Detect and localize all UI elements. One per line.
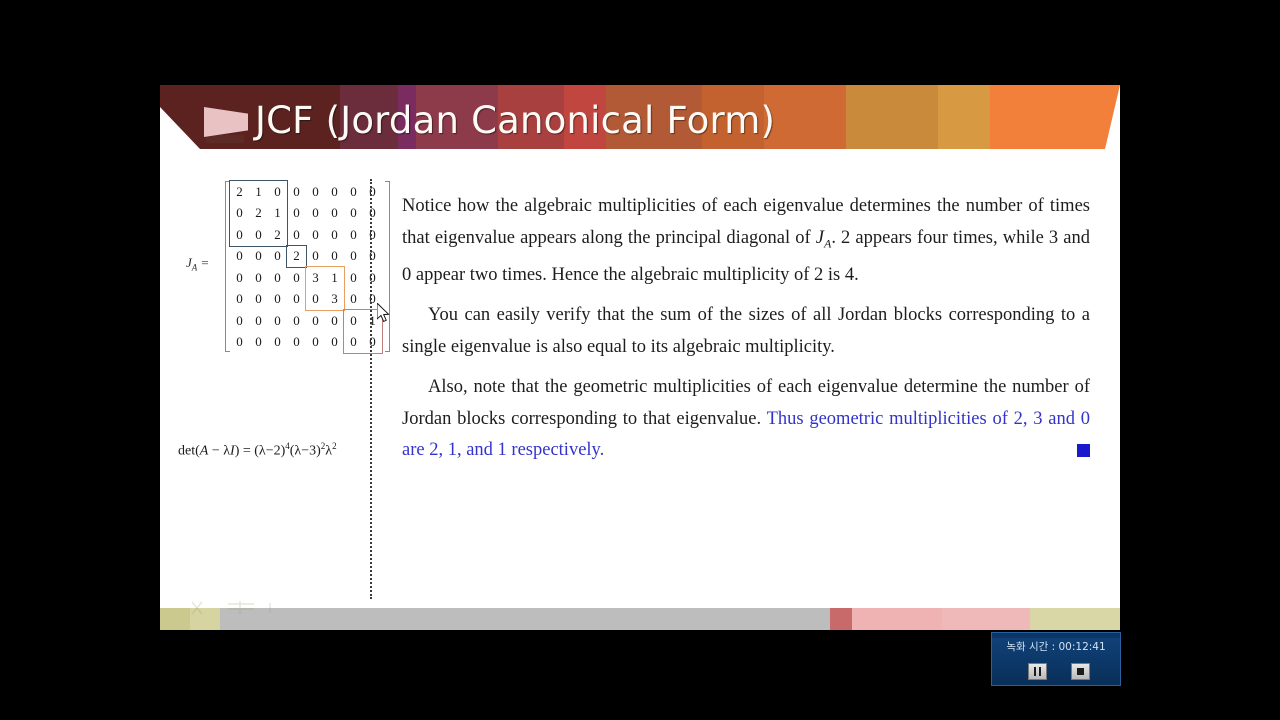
matrix-label-subscript: A: [192, 263, 198, 273]
matrix-cell-6-1: 0: [249, 310, 268, 332]
paragraph-algebraic-multiplicity: Notice how the algebraic multiplicities …: [402, 191, 1090, 291]
pause-button[interactable]: [1028, 663, 1047, 680]
matrix-cell-0-6: 0: [344, 181, 363, 203]
det-prefix: det(: [178, 444, 200, 459]
matrix-cell-5-6: 0: [344, 289, 363, 311]
matrix-cell-5-3: 0: [287, 289, 306, 311]
matrix-cell-3-7: 0: [363, 246, 382, 268]
matrix-cell-7-4: 0: [306, 332, 325, 354]
matrix-cell-6-3: 0: [287, 310, 306, 332]
pause-icon: [1034, 667, 1041, 676]
matrix-cell-7-0: 0: [230, 332, 249, 354]
matrix-cell-2-5: 0: [325, 224, 344, 246]
matrix-bracket-right: [385, 181, 390, 352]
matrix-cell-0-7: 0: [363, 181, 382, 203]
paragraph-algebraic-multiplicity-run-1: J: [816, 228, 824, 248]
footer-segment-5: [942, 608, 1030, 630]
slide-text-column: Notice how the algebraic multiplicities …: [402, 191, 1090, 476]
matrix-cell-5-2: 0: [268, 289, 287, 311]
matrix-cell-2-4: 0: [306, 224, 325, 246]
matrix-cell-0-4: 0: [306, 181, 325, 203]
banner-stripe-10: [938, 85, 990, 163]
matrix-cell-1-6: 0: [344, 203, 363, 225]
det-term-2: (λ−3): [290, 444, 321, 459]
banner-stripe-9: [846, 85, 938, 163]
matrix-cell-7-3: 0: [287, 332, 306, 354]
matrix-cell-1-5: 0: [325, 203, 344, 225]
banner-stripe-11: [990, 85, 1120, 163]
matrix-cell-2-7: 0: [363, 224, 382, 246]
matrix-equals: =: [201, 255, 210, 270]
page-title: JCF (Jordan Canonical Form): [255, 93, 775, 149]
screen: JCF (Jordan Canonical Form) JA = 2100000…: [0, 0, 1280, 720]
paragraph-sum-of-sizes: You can easily verify that the sum of th…: [402, 300, 1090, 363]
footer-segment-6: [1030, 608, 1120, 630]
matrix-cell-3-1: 0: [249, 246, 268, 268]
matrix-label: JA =: [186, 255, 209, 273]
matrix-cell-5-0: 0: [230, 289, 249, 311]
video-slide-area[interactable]: JCF (Jordan Canonical Form) JA = 2100000…: [160, 85, 1120, 630]
matrix-cell-3-6: 0: [344, 246, 363, 268]
jordan-block-2-size3: [229, 180, 288, 247]
banner-stripe-8: [764, 85, 846, 163]
paragraph-geometric-multiplicity: Also, note that the geometric multiplici…: [402, 372, 1090, 467]
matrix-cell-0-3: 0: [287, 181, 306, 203]
jordan-block-2-size1: [286, 245, 307, 269]
matrix-cell-6-4: 0: [306, 310, 325, 332]
screen-recorder-widget[interactable]: 녹화 시간 : 00:12:41: [991, 632, 1121, 686]
footer-scribble-mark: [188, 600, 318, 616]
footer-segment-0: [160, 608, 190, 630]
matrix-cell-3-4: 0: [306, 246, 325, 268]
matrix-cell-4-6: 0: [344, 267, 363, 289]
matrix-cell-1-7: 0: [363, 203, 382, 225]
matrix-cell-6-0: 0: [230, 310, 249, 332]
bullet-shadow: [206, 135, 244, 143]
matrix-cell-6-2: 0: [268, 310, 287, 332]
matrix-cell-3-5: 0: [325, 246, 344, 268]
slide-body: JA = 21000000021000000020000000020000000…: [160, 163, 1120, 630]
determinant-equation: det(A − λI) = (λ−2)4(λ−3)2λ2: [178, 441, 337, 460]
matrix-cell-6-5: 0: [325, 310, 344, 332]
jordan-block-3-size2: [305, 266, 345, 311]
matrix-cell-4-3: 0: [287, 267, 306, 289]
jordan-matrix: JA = 21000000021000000020000000020000000…: [186, 181, 391, 356]
matrix-cell-0-5: 0: [325, 181, 344, 203]
stop-button[interactable]: [1071, 663, 1090, 680]
footer-segment-3: [830, 608, 852, 630]
footer-segment-4: [852, 608, 942, 630]
slide-header-banner: JCF (Jordan Canonical Form): [160, 85, 1120, 163]
det-exp-3: 2: [332, 441, 337, 451]
end-of-proof-square: [1077, 444, 1090, 457]
matrix-cell-1-4: 0: [306, 203, 325, 225]
matrix-cell-1-3: 0: [287, 203, 306, 225]
matrix-cell-2-3: 0: [287, 224, 306, 246]
det-minus-lambda-I: − λI) = (λ−2): [208, 444, 285, 459]
matrix-cell-7-1: 0: [249, 332, 268, 354]
matrix-cell-2-6: 0: [344, 224, 363, 246]
vertical-dotted-divider: [370, 179, 372, 599]
matrix-cell-5-1: 0: [249, 289, 268, 311]
matrix-grid: 2100000002100000002000000002000000003100…: [230, 181, 385, 354]
matrix-cell-3-0: 0: [230, 246, 249, 268]
matrix-cell-4-0: 0: [230, 267, 249, 289]
matrix-cell-7-2: 0: [268, 332, 287, 354]
matrix-cell-4-7: 0: [363, 267, 382, 289]
matrix-cell-4-2: 0: [268, 267, 287, 289]
paragraph-sum-of-sizes-run-0: You can easily verify that the sum of th…: [402, 305, 1090, 357]
recorder-titlebar: [992, 633, 1120, 638]
matrix-cell-4-1: 0: [249, 267, 268, 289]
recording-time-label: 녹화 시간 : 00:12:41: [992, 639, 1120, 654]
stop-icon: [1077, 668, 1084, 675]
mouse-pointer-icon: [377, 303, 391, 323]
matrix-cell-3-2: 0: [268, 246, 287, 268]
matrix-cell-7-5: 0: [325, 332, 344, 354]
